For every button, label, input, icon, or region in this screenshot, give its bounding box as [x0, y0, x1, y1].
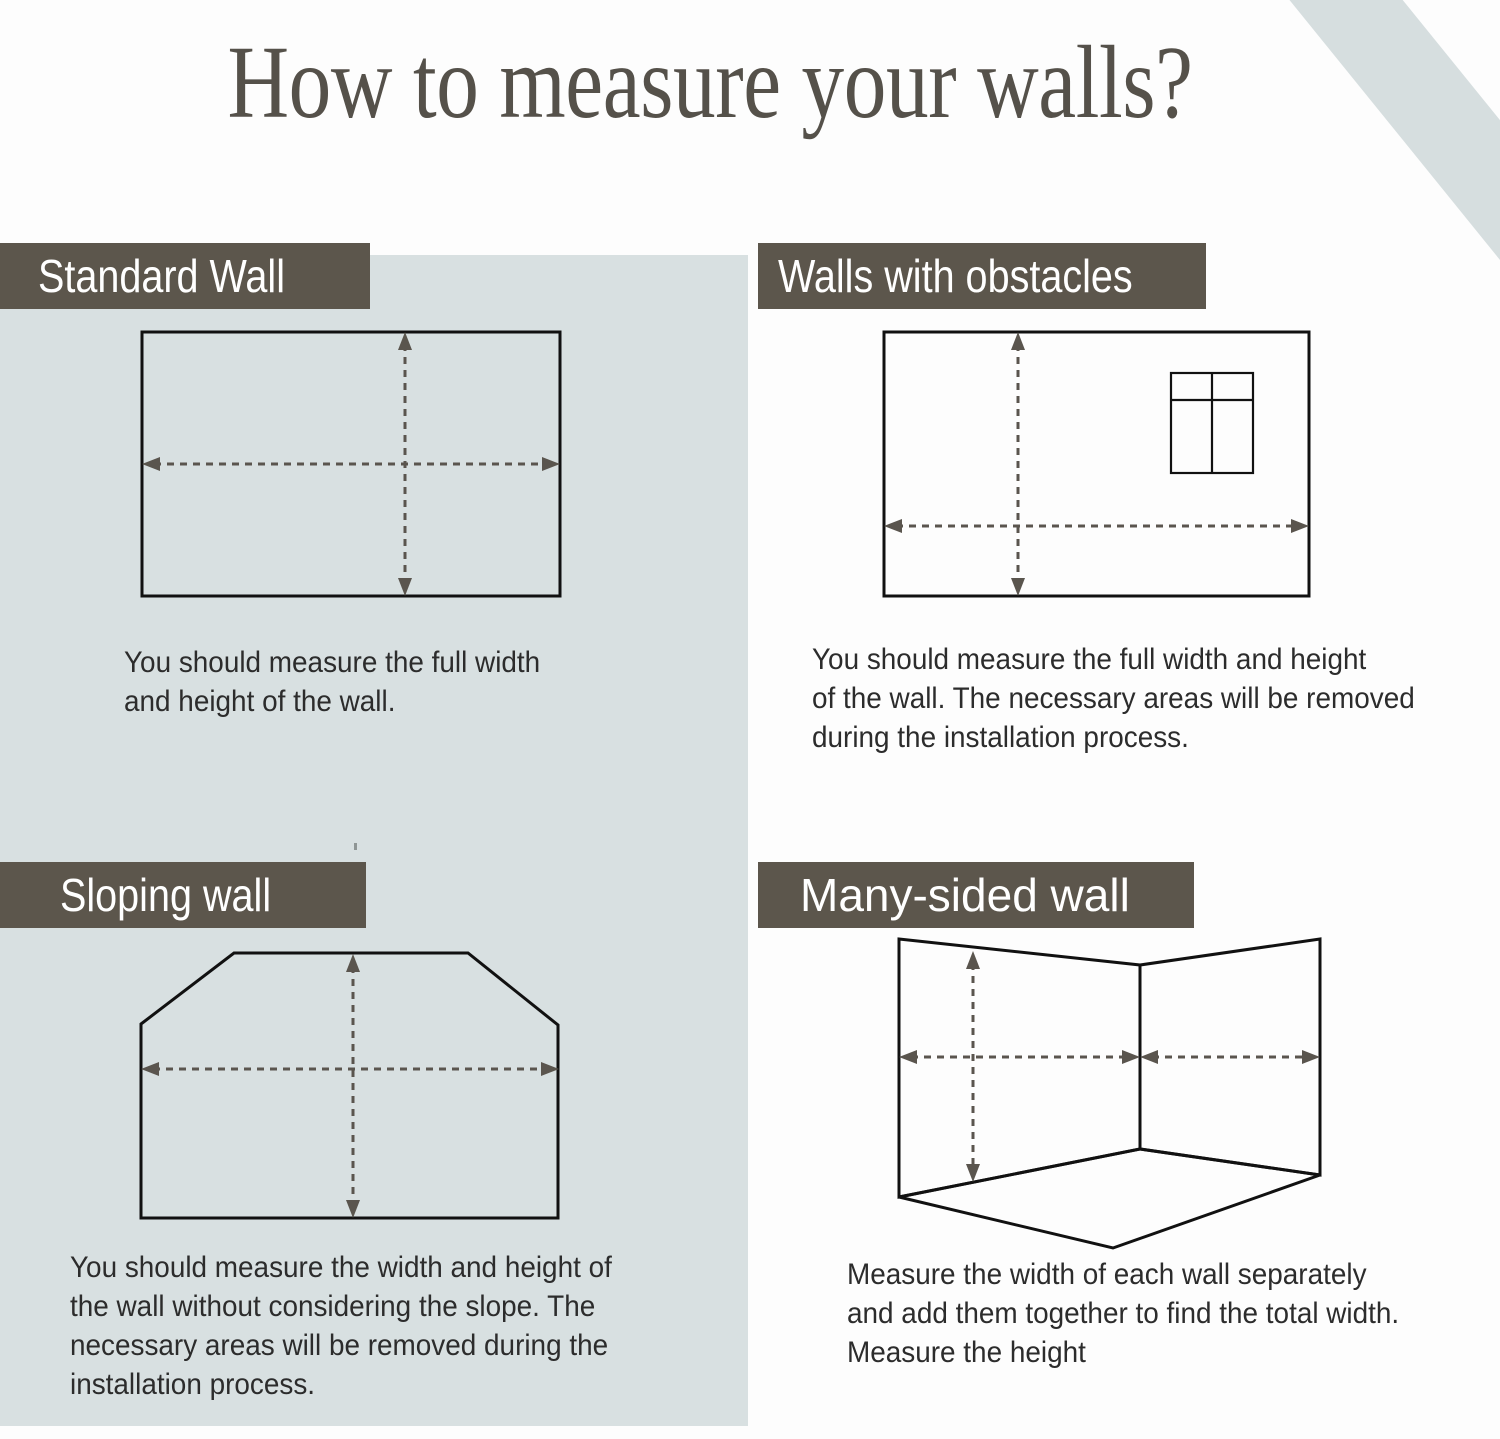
width-dimension-arrow — [141, 1062, 559, 1076]
section-header-label: Sloping wall — [60, 872, 271, 918]
width-dimension-arrow — [884, 519, 1309, 533]
section-header-standard-wall: Standard Wall — [0, 243, 370, 309]
section-header-many-sided-wall: Many-sided wall — [758, 862, 1194, 928]
page-title: How to measure your walls? — [128, 28, 1292, 137]
floor-face — [899, 1149, 1320, 1248]
left-wall-face — [899, 939, 1140, 1197]
section-header-label: Many-sided wall — [800, 872, 1130, 918]
description-many-sided-wall: Measure the width of each wall separatel… — [847, 1255, 1479, 1372]
height-dimension-arrow — [398, 332, 412, 596]
diagram-many-sided-wall — [870, 920, 1350, 1270]
description-sloping-wall: You should measure the width and height … — [70, 1248, 684, 1404]
section-header-sloping-wall: Sloping wall — [0, 862, 366, 928]
height-dimension-arrow — [1011, 332, 1025, 596]
section-header-walls-with-obstacles: Walls with obstacles — [758, 243, 1206, 309]
description-standard-wall: You should measure the full width and he… — [124, 643, 719, 721]
sloping-wall-polygon — [141, 953, 558, 1218]
height-dimension-arrow — [966, 951, 980, 1182]
width-dimension-arrow — [142, 457, 560, 471]
height-dimension-arrow — [346, 954, 360, 1218]
wall-rectangle — [884, 332, 1309, 596]
decorative-tick-mark — [354, 843, 357, 850]
diagram-standard-wall — [120, 320, 580, 610]
left-wall-width-arrow — [899, 1050, 1140, 1064]
window-icon — [1171, 373, 1253, 473]
right-wall-width-arrow — [1140, 1050, 1320, 1064]
infographic-page: How to measure your walls? Standard Wall… — [0, 0, 1500, 1439]
diagram-sloping-wall — [120, 930, 590, 1240]
description-walls-with-obstacles: You should measure the full width and he… — [812, 640, 1463, 757]
section-header-label: Standard Wall — [38, 253, 285, 299]
diagram-wall-with-obstacles — [870, 320, 1330, 610]
section-header-label: Walls with obstacles — [778, 253, 1133, 299]
